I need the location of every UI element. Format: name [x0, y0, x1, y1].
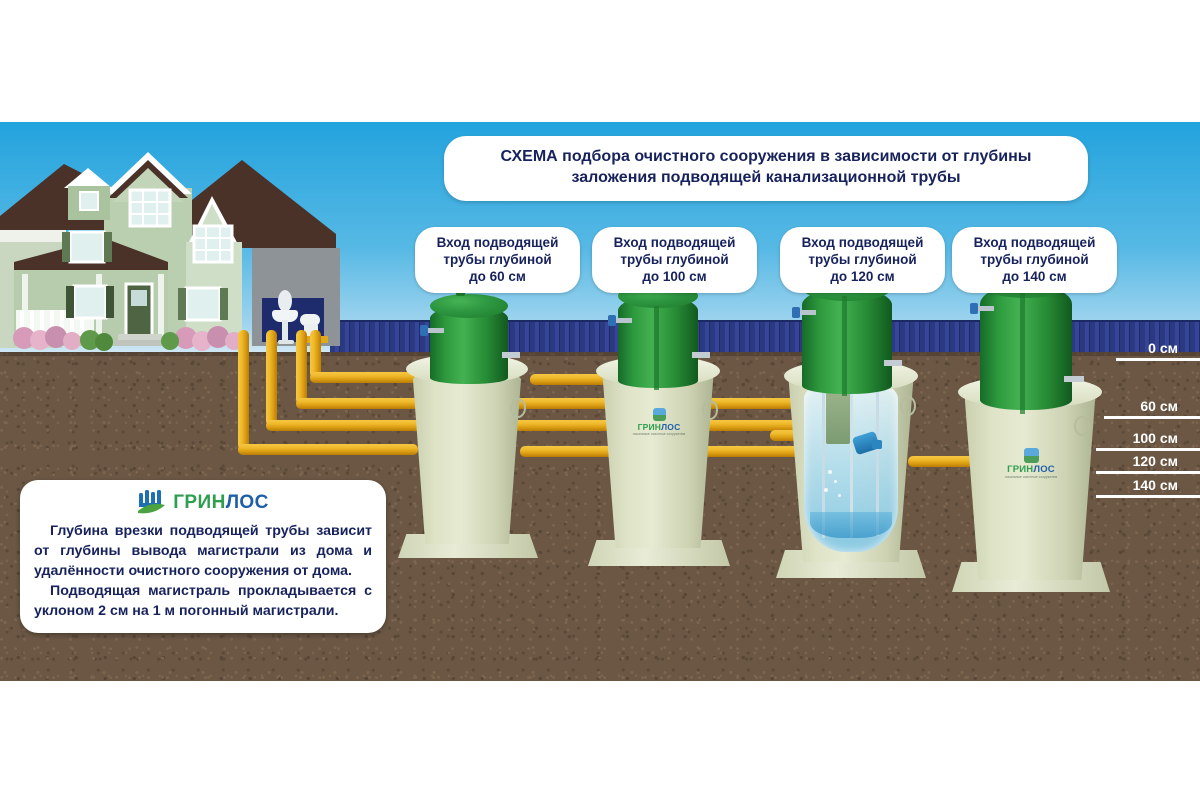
- callout-100-line1: Вход подводящей: [602, 234, 747, 251]
- callout-140: Вход подводящей трубы глубиной до 140 см: [952, 227, 1117, 293]
- greenlos-logo: ГРИНЛОС: [34, 490, 372, 516]
- info-panel: ГРИНЛОС Глубина врезки подводящей трубы …: [20, 480, 386, 633]
- callout-140-line3: до 140 см: [962, 268, 1107, 285]
- callout-120: Вход подводящей трубы глубиной до 120 см: [780, 227, 945, 293]
- tank-logo-2: ГРИНЛОС локальные очистные сооружения: [622, 408, 696, 436]
- depth-label-140: 140 см: [1070, 477, 1178, 493]
- depth-line-100: [1096, 448, 1200, 451]
- greenlos-logo-icon: [137, 490, 167, 516]
- depth-line-140: [1096, 495, 1200, 498]
- callout-120-line1: Вход подводящей: [790, 234, 935, 251]
- pipe-drop-1: [310, 330, 321, 378]
- depth-line-60: [1104, 416, 1200, 419]
- tank-logo-green-2: ГРИН: [638, 422, 662, 432]
- logo-text-blue: ЛОС: [226, 492, 269, 513]
- tank-logo-blue-2: ЛОС: [661, 422, 680, 432]
- callout-60: Вход подводящей трубы глубиной до 60 см: [415, 227, 580, 293]
- pipe-run-2: [296, 398, 856, 409]
- septic-tank-4[interactable]: ГРИНЛОС локальные очистные сооружения: [952, 290, 1108, 610]
- depth-label-60: 60 см: [1078, 398, 1178, 414]
- house-illustration: [0, 130, 340, 355]
- septic-tank-1[interactable]: [398, 312, 538, 572]
- tank-logo-4: ГРИНЛОС локальные очистные сооружения: [992, 448, 1070, 479]
- callout-100: Вход подводящей трубы глубиной до 100 см: [592, 227, 757, 293]
- septic-tank-2[interactable]: ГРИНЛОС локальные очистные сооружения: [588, 300, 728, 580]
- pipe-drop-4: [238, 330, 249, 450]
- title-line-1: СХЕМА подбора очистного сооружения в зав…: [462, 146, 1070, 167]
- callout-100-line2: трубы глубиной: [602, 251, 747, 268]
- depth-line-0: [1116, 358, 1200, 361]
- depth-line-120: [1096, 471, 1200, 474]
- info-paragraph-2: Подводящая магистраль прокладывается с у…: [34, 582, 372, 622]
- callout-100-line3: до 100 см: [602, 268, 747, 285]
- callout-120-line2: трубы глубиной: [790, 251, 935, 268]
- septic-tank-3-cutaway[interactable]: [776, 294, 926, 594]
- callout-60-line2: трубы глубиной: [425, 251, 570, 268]
- callout-120-line3: до 120 см: [790, 268, 935, 285]
- depth-label-100: 100 см: [1070, 430, 1178, 446]
- callout-60-line1: Вход подводящей: [425, 234, 570, 251]
- tank-logo-blue-4: ЛОС: [1033, 464, 1055, 475]
- callout-60-line3: до 60 см: [425, 268, 570, 285]
- depth-label-0: 0 см: [1090, 340, 1178, 356]
- title-line-2: заложения подводящей канализационной тру…: [462, 167, 1070, 188]
- tank-logo-green-4: ГРИН: [1007, 464, 1033, 475]
- tank-logo-tagline-2: локальные очистные сооружения: [622, 432, 696, 436]
- callout-140-line2: трубы глубиной: [962, 251, 1107, 268]
- pipe-drop-3: [266, 330, 277, 426]
- callout-140-line1: Вход подводящей: [962, 234, 1107, 251]
- pipe-run-4: [238, 444, 418, 455]
- logo-text-green: ГРИН: [173, 492, 225, 513]
- scheme-illustration: ГРИНЛОС локальные очистные сооружения: [0, 122, 1200, 681]
- pipe-drop-2: [296, 330, 307, 404]
- tank-logo-tagline-4: локальные очистные сооружения: [992, 475, 1070, 479]
- info-paragraph-1: Глубина врезки подводящей трубы зависит …: [34, 522, 372, 582]
- title-banner: СХЕМА подбора очистного сооружения в зав…: [444, 136, 1088, 201]
- depth-label-120: 120 см: [1070, 453, 1178, 469]
